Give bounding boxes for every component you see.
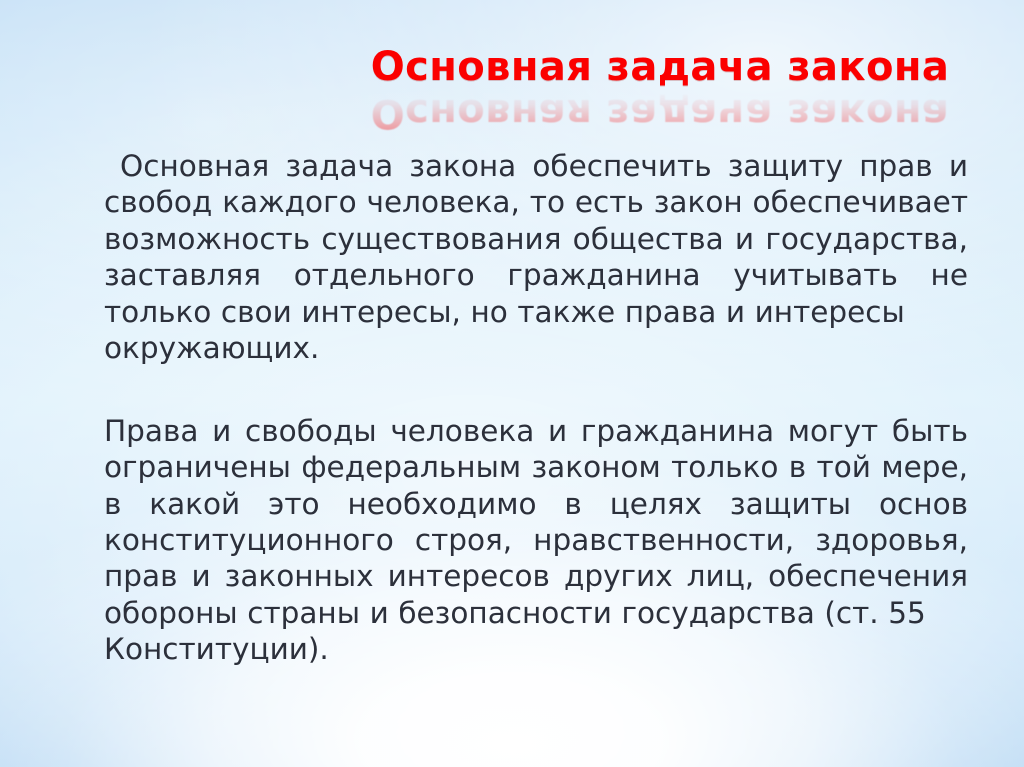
body-paragraph-2: Права и свободы человека и гражданина мо… bbox=[104, 413, 968, 704]
page-title: Основная задача закона bbox=[336, 44, 984, 90]
paragraph-last-line: Конституции). bbox=[104, 631, 968, 667]
slide-title-block: Основная задача закона Основная задача з… bbox=[336, 44, 984, 136]
page-title-reflection: Основная задача закона bbox=[336, 90, 984, 136]
paragraph-last-line: окружающих. bbox=[104, 330, 968, 366]
slide-canvas: Основная задача закона Основная задача з… bbox=[0, 0, 1024, 767]
body-paragraph-1: Основная задача закона обеспечить защиту… bbox=[104, 148, 968, 403]
slide-body: Основная задача закона обеспечить защиту… bbox=[104, 148, 968, 704]
